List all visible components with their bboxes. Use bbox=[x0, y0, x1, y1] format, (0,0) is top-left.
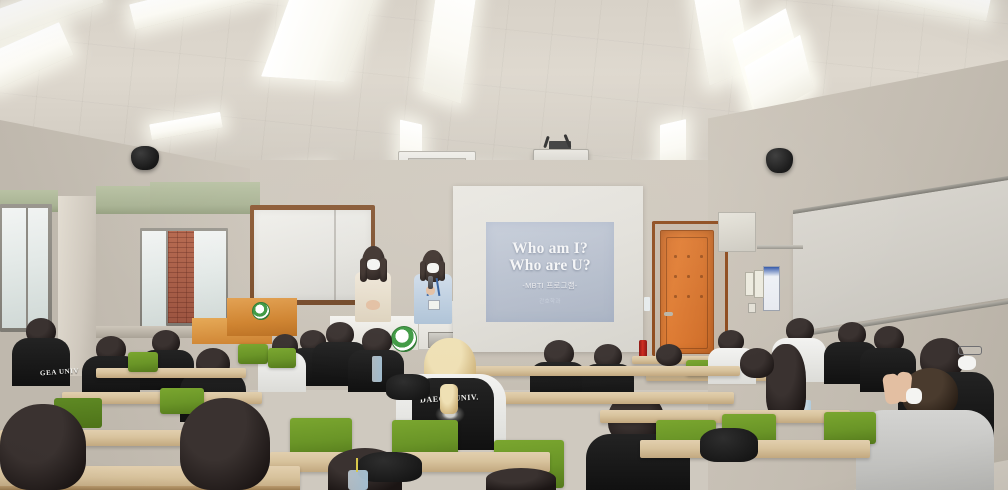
student-head bbox=[0, 404, 86, 490]
whiteboard-divider bbox=[334, 210, 336, 300]
student-body bbox=[12, 338, 70, 386]
projected-slide: Who am I? Who are U? -MBTI 프로그램- 간호학과 bbox=[486, 222, 614, 322]
drink-straw bbox=[356, 458, 358, 472]
door-panel bbox=[666, 237, 708, 349]
wall-switch[interactable] bbox=[748, 303, 756, 313]
front-whiteboard bbox=[254, 210, 371, 300]
presenter-right-hair bbox=[420, 261, 426, 281]
student-head bbox=[486, 468, 556, 490]
window-blind bbox=[150, 182, 260, 214]
water-bottle bbox=[372, 356, 382, 382]
slide-department: 간호학과 bbox=[539, 297, 560, 305]
presenter-left-hair bbox=[360, 258, 367, 282]
wall-speaker-right bbox=[766, 148, 793, 173]
door-handle-icon[interactable] bbox=[664, 312, 673, 316]
window-mullion bbox=[26, 208, 28, 328]
presenter-left-hands bbox=[366, 300, 380, 310]
wall-rail bbox=[757, 245, 803, 249]
presenter-id-badge bbox=[428, 300, 440, 310]
slide-subtitle: -MBTI 프로그램- bbox=[522, 280, 577, 291]
chair bbox=[128, 352, 158, 372]
backpack bbox=[386, 374, 430, 400]
drink-cup bbox=[348, 470, 368, 490]
upper-cabinet bbox=[718, 212, 756, 252]
student-body bbox=[856, 410, 994, 490]
student-hair-blonde bbox=[440, 384, 458, 414]
university-emblem bbox=[391, 326, 417, 352]
chair bbox=[268, 348, 296, 368]
face-mask bbox=[958, 356, 976, 370]
microphone[interactable] bbox=[428, 276, 433, 289]
entrance-door[interactable] bbox=[660, 230, 714, 354]
student-head bbox=[740, 348, 774, 378]
desk bbox=[96, 368, 246, 378]
backpack bbox=[700, 428, 758, 462]
face-mask bbox=[906, 388, 922, 404]
wall-notice-board bbox=[763, 266, 780, 311]
window-glass bbox=[2, 208, 48, 328]
presenter-right-face-mask bbox=[427, 263, 439, 273]
window-glass bbox=[194, 231, 226, 323]
student-head bbox=[656, 344, 682, 366]
student-head bbox=[180, 398, 270, 490]
slide-line-2: Who are U? bbox=[509, 257, 591, 274]
presenter-left-face-mask bbox=[367, 259, 380, 270]
university-emblem bbox=[252, 302, 270, 320]
lecture-hall-photo: Who am I? Who are U? -MBTI 프로그램- 간호학과 bbox=[0, 0, 1008, 490]
presenter-left-hair bbox=[380, 258, 387, 282]
wall-notice bbox=[754, 270, 764, 298]
wall-speaker-left bbox=[131, 146, 159, 170]
slide-line-1: Who am I? bbox=[512, 240, 588, 257]
wall-notice bbox=[745, 272, 754, 296]
exterior-brick-wall bbox=[168, 231, 194, 323]
presenter-right-hair bbox=[439, 261, 445, 281]
sanitizer-bottle bbox=[644, 297, 650, 311]
chair bbox=[238, 344, 268, 364]
eyeglasses-icon bbox=[958, 346, 982, 355]
